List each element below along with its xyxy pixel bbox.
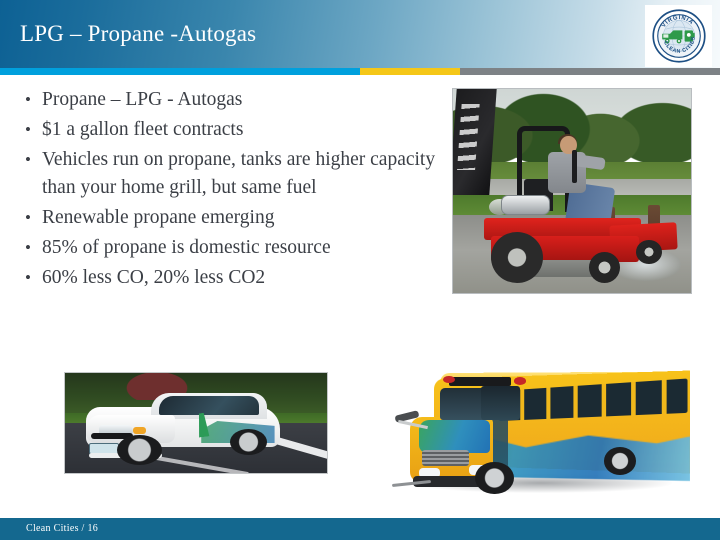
turn-signal [133, 427, 146, 434]
bullet-text: 85% of propane is domestic resource [42, 234, 444, 262]
slide: LPG – Propane -Autogas [0, 0, 720, 540]
slide-footer: Clean Cities / 16 [0, 518, 720, 540]
bus-scene [392, 358, 690, 506]
list-item: • Propane – LPG - Autogas [14, 86, 444, 114]
bullet-text: Renewable propane emerging [42, 204, 444, 232]
bus-destination-sign [449, 377, 512, 386]
accent-segment-cyan [0, 68, 360, 75]
bus-hood-graphic [419, 420, 491, 453]
event-banner [452, 89, 497, 195]
bullet-list: • Propane – LPG - Autogas • $1 a gallon … [14, 86, 444, 294]
page-title: LPG – Propane -Autogas [20, 21, 256, 47]
sedan-scene [65, 373, 327, 473]
slide-header: LPG – Propane -Autogas [0, 0, 720, 68]
mower-scene [453, 89, 691, 293]
bus-grille [422, 450, 470, 466]
bullet-text: Propane – LPG - Autogas [42, 86, 444, 114]
bus-warning-light-right [514, 377, 526, 384]
footer-label: Clean Cities / 16 [26, 523, 98, 534]
list-item: • Renewable propane emerging [14, 204, 444, 232]
bus-rear-wheel [604, 447, 637, 475]
front-wheel [589, 252, 620, 283]
bus-warning-light-left [443, 376, 455, 383]
propane-tank [501, 195, 551, 215]
accent-bar [0, 68, 720, 75]
bullet-point-icon: • [14, 264, 42, 292]
bullet-point-icon: • [14, 146, 42, 174]
rear-wheel [230, 429, 267, 455]
accent-segment-yellow [360, 68, 460, 75]
list-item: • Vehicles run on propane, tanks are hig… [14, 146, 444, 202]
bullet-point-icon: • [14, 86, 42, 114]
propane-lawn-mower-photo [452, 88, 692, 294]
list-item: • 85% of propane is domestic resource [14, 234, 444, 262]
sedan-windows [159, 396, 259, 415]
bullet-text: 60% less CO, 20% less CO2 [42, 264, 444, 292]
list-item: • $1 a gallon fleet contracts [14, 116, 444, 144]
bullet-point-icon: • [14, 234, 42, 262]
list-item: • 60% less CO, 20% less CO2 [14, 264, 444, 292]
accent-segment-gray [460, 68, 720, 75]
bus-windshield-right [481, 386, 520, 420]
logo-seal-icon: VIRGINIA CLEAN CITIES [651, 8, 707, 64]
front-wheel [117, 435, 162, 465]
control-lever [572, 150, 577, 183]
bullet-text: $1 a gallon fleet contracts [42, 116, 444, 144]
bus-front-wheel [475, 462, 514, 495]
bullet-point-icon: • [14, 204, 42, 232]
propane-school-bus-image [392, 358, 690, 506]
rear-wheel [491, 232, 543, 283]
clean-cities-sedan-photo [64, 372, 328, 474]
bullet-text: Vehicles run on propane, tanks are highe… [42, 146, 444, 202]
virginia-clean-cities-logo: VIRGINIA CLEAN CITIES [645, 5, 712, 67]
bullet-point-icon: • [14, 116, 42, 144]
